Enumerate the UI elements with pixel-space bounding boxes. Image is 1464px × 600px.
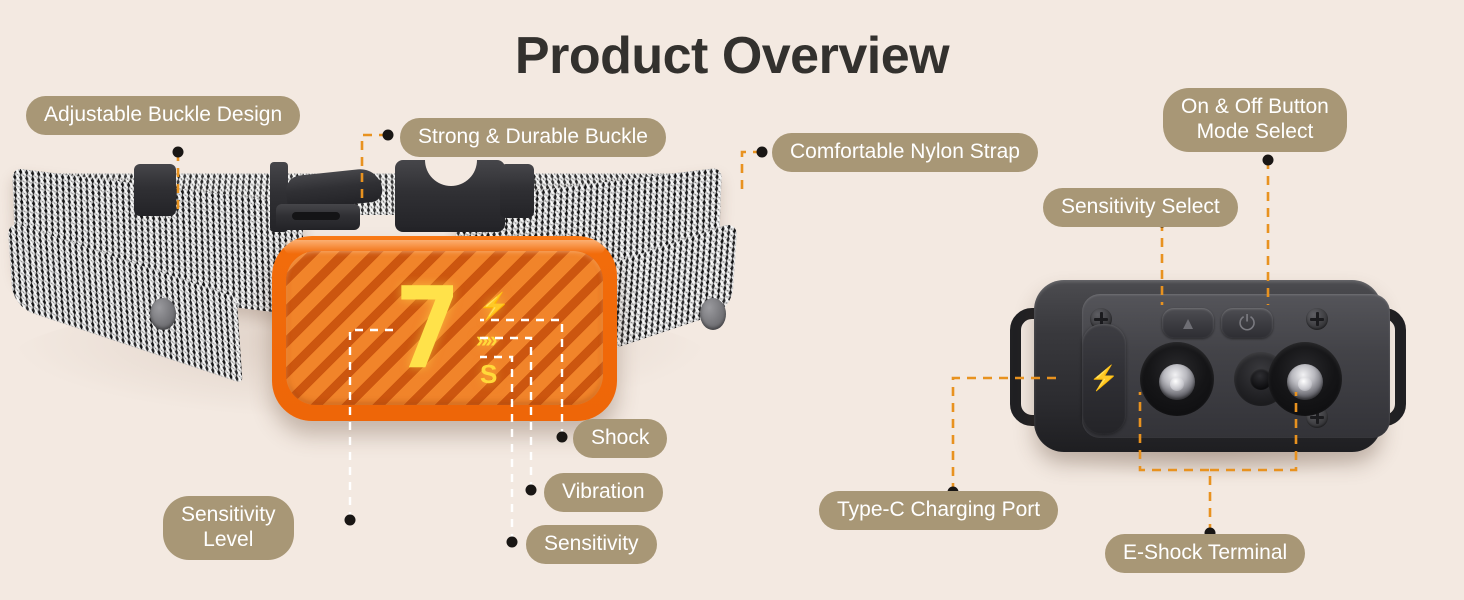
receiver-face: 7 ⚡ »» S — [286, 251, 603, 405]
lcd-display: 7 ⚡ »» S — [394, 285, 534, 395]
leader-dot-vibration — [526, 485, 537, 496]
callout-comfortable-nylon-strap: Comfortable Nylon Strap — [772, 133, 1038, 172]
vibration-icon: »» — [476, 329, 494, 351]
callout-sensitivity: Sensitivity — [526, 525, 657, 564]
callout-sensitivity-level: Sensitivity Level — [163, 496, 294, 560]
strap-contact-right — [700, 298, 726, 330]
sensitivity-icon: S — [480, 361, 497, 387]
product-overview-infographic: Product Overview 7 ⚡ »» — [0, 0, 1464, 600]
power-button[interactable]: ⏻ — [1221, 308, 1273, 338]
lightning-bolt-icon: ⚡ — [1089, 367, 1119, 391]
page-title: Product Overview — [0, 26, 1464, 86]
strap-contact-left — [150, 298, 176, 330]
leader-dot-sensitivity — [507, 537, 518, 548]
lcd-level-value: 7 — [394, 285, 472, 393]
buckle-keeper-right — [500, 164, 534, 218]
prong-tip-right — [1287, 364, 1323, 400]
leader-dot-on-off — [1263, 155, 1274, 166]
callout-sensitivity-select: Sensitivity Select — [1043, 188, 1238, 227]
module-gloss-highlight — [284, 240, 605, 254]
buckle-slot — [292, 212, 340, 220]
callout-vibration: Vibration — [544, 473, 663, 512]
callout-on-off-button-mode-select: On & Off Button Mode Select — [1163, 88, 1347, 152]
remote-body: ▲ ⏻ ⚡ — [1034, 280, 1382, 452]
power-icon: ⏻ — [1239, 313, 1256, 334]
screw-top-right — [1306, 308, 1328, 330]
shock-icon: ⚡ — [478, 293, 510, 319]
type-c-port-cover[interactable]: ⚡ — [1082, 324, 1126, 434]
callout-e-shock-terminal: E-Shock Terminal — [1105, 534, 1305, 573]
buckle-keeper-left — [134, 164, 176, 216]
e-shock-prong-left — [1140, 342, 1214, 416]
e-shock-prong-right — [1268, 342, 1342, 416]
leader-dot-sensitivity-level — [345, 515, 356, 526]
callout-strong-durable-buckle: Strong & Durable Buckle — [400, 118, 666, 157]
callout-type-c-charging-port: Type-C Charging Port — [819, 491, 1058, 530]
prong-tip-left — [1159, 364, 1195, 400]
remote-unit-illustration: ▲ ⏻ ⚡ — [1006, 280, 1410, 452]
mode-select-button[interactable]: ▲ — [1162, 308, 1214, 338]
callout-adjustable-buckle-design: Adjustable Buckle Design — [26, 96, 300, 135]
triangle-up-icon: ▲ — [1180, 315, 1197, 332]
receiver-module: 7 ⚡ »» S — [272, 236, 617, 421]
callout-shock: Shock — [573, 419, 667, 458]
leader-dot-strong-buckle — [383, 130, 394, 141]
